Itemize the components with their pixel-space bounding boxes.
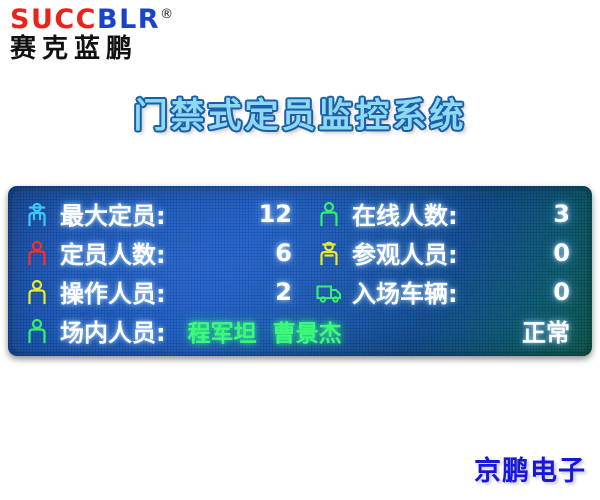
logo-latin-blue: BLR (97, 4, 160, 35)
led-label: 操作人员: (60, 274, 166, 309)
led-label: 入场车辆: (352, 274, 458, 309)
led-value: 3 (458, 200, 578, 228)
person-icon (314, 199, 344, 229)
led-label: 定员人数: (60, 235, 166, 270)
led-value: 0 (458, 278, 578, 306)
footer-brand: 京鹏电子 (474, 449, 586, 488)
led-cell-operator-count: 操作人员: 2 (22, 273, 314, 310)
led-row-onsite-personnel: 场内人员: 程军坦 曹景杰 正常 (22, 312, 578, 349)
list-item: 程军坦 (188, 314, 257, 348)
led-cell-max-capacity: 最大定员: 12 (22, 195, 314, 232)
led-label: 在线人数: (352, 196, 458, 231)
person-icon (22, 316, 52, 346)
led-row: 定员人数: 6 参观人员: 0 (22, 234, 578, 271)
led-row: 最大定员: 12 在线人数: 3 (22, 195, 578, 232)
logo-chinese-text: 赛克蓝鹏 (10, 35, 230, 64)
person-cap-icon (22, 199, 52, 229)
led-cell-online-count: 在线人数: 3 (314, 195, 578, 232)
person-hat-icon (314, 238, 344, 268)
led-value: 12 (166, 200, 314, 228)
led-label: 最大定员: (60, 196, 166, 231)
led-label: 参观人员: (352, 235, 458, 270)
led-row: 操作人员: 2 入场车辆: 0 (22, 273, 578, 310)
page-title: 门禁式定员监控系统 (0, 88, 600, 137)
logo-latin-red: SUCC (10, 4, 97, 35)
onsite-name-list: 程军坦 曹景杰 (166, 314, 379, 348)
list-item: 曹景杰 (273, 314, 342, 348)
person-icon (22, 277, 52, 307)
company-logo: SUCCBLR® 赛克蓝鹏 (10, 6, 230, 64)
led-value: 2 (166, 278, 314, 306)
led-rows-container: 最大定员: 12 在线人数: 3 (8, 186, 592, 356)
led-value: 0 (458, 239, 578, 267)
led-value: 6 (166, 239, 314, 267)
registered-trademark-icon: ® (160, 7, 173, 22)
led-label-onsite: 场内人员: (60, 313, 166, 348)
led-cell-assigned-count: 定员人数: 6 (22, 234, 314, 271)
logo-latin-text: SUCCBLR® (10, 6, 230, 33)
person-icon (22, 238, 52, 268)
led-cell-visitor-count: 参观人员: 0 (314, 234, 578, 271)
led-display-panel: 最大定员: 12 在线人数: 3 (8, 186, 592, 356)
status-badge: 正常 (379, 313, 578, 348)
truck-icon (314, 277, 344, 307)
led-cell-vehicle-count: 入场车辆: 0 (314, 273, 578, 310)
